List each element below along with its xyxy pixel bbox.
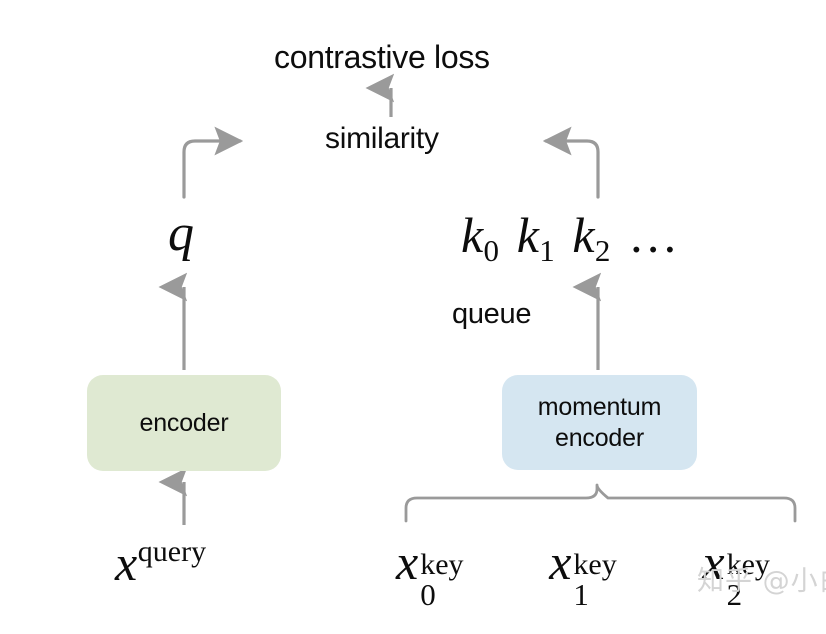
query-input-base: x [115, 535, 137, 591]
arrow-q-to-similarity [184, 141, 240, 197]
key-input-0: xkey0 [396, 534, 533, 590]
contrastive-loss-label: contrastive loss [274, 39, 490, 76]
query-symbol-glyph: q [168, 205, 194, 262]
momentum-encoder-node-label: momentumencoder [538, 392, 661, 453]
brace-key-inputs [406, 485, 795, 521]
key-input-1: xkey1 [549, 534, 686, 590]
key-subscript-0: 0 [484, 233, 500, 268]
watermark: 知乎 @小白 [697, 559, 826, 598]
encoder-node-label: encoder [140, 408, 229, 439]
encoder-node[interactable]: encoder [87, 375, 281, 471]
momentum-encoder-line-2: encoder [555, 424, 644, 452]
key-representations-row: k0k1k2… [461, 206, 680, 264]
key-symbol-2: k2 [572, 207, 610, 263]
queue-label: queue [452, 298, 531, 331]
diagram-canvas: contrastive loss similarity q k0k1k2… qu… [0, 0, 826, 634]
key-subscript-1: 1 [539, 233, 555, 268]
key-input-0-subscript: 0 [420, 577, 436, 613]
arrow-keys-to-similarity [546, 141, 598, 197]
key-input-1-subscript: 1 [573, 577, 589, 613]
key-subscript-2: 2 [595, 233, 611, 268]
query-input-symbol: xquery [115, 534, 206, 592]
momentum-encoder-line-1: momentum [538, 393, 661, 421]
query-input-superscript: query [138, 535, 206, 568]
query-representation-symbol: q [168, 204, 194, 263]
key-ellipsis: … [628, 207, 680, 263]
similarity-label: similarity [325, 122, 439, 156]
key-symbol-0: k0 [461, 207, 499, 263]
key-symbol-1: k1 [517, 207, 555, 263]
momentum-encoder-node[interactable]: momentumencoder [502, 375, 697, 470]
